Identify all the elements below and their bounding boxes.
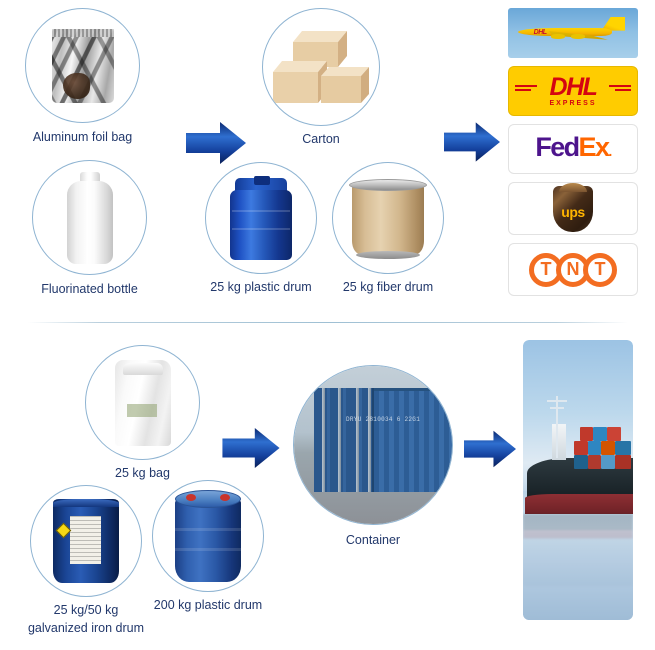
plastic-drum-25kg-circle [205,162,317,274]
cargo-ship-photo [523,340,633,620]
carrier-ups[interactable]: ups [508,182,638,235]
arrow-outer-to-carriers-icon [444,122,500,162]
arrow-inner-to-outer-icon [186,122,246,164]
container-image: DRYU 2810034 6 22G1 [294,366,452,524]
arrow-container-to-ship-icon [464,430,516,468]
dhl-wordmark: DHL [550,75,597,99]
aluminum-foil-bag-image [52,29,114,103]
item-aluminum-foil-bag: Aluminum foil bag [25,8,140,123]
carrier-dhl-express[interactable]: DHL EXPRESS [508,66,638,116]
container-circle: DRYU 2810034 6 22G1 [293,365,453,525]
item-cargo-ship[interactable] [523,340,633,620]
carton-label: Carton [302,132,340,147]
item-bag-25kg: 25 kg bag [85,345,200,460]
fluorinated-bottle-circle [32,160,147,275]
carton-circle [262,8,380,126]
container-code: DRYU 2810034 6 22G1 [346,416,420,423]
item-container: DRYU 2810034 6 22G1 Container [293,365,453,525]
tnt-letter-3: T [583,253,617,287]
fluorinated-bottle-image [67,172,113,264]
galvanized-iron-drum-label-line2: galvanized iron drum [28,621,144,636]
galvanized-iron-drum-image [53,499,119,583]
dhl-express-subtext: EXPRESS [549,100,596,107]
arrow-goods-to-container-icon [222,428,280,468]
item-fluorinated-bottle: Fluorinated bottle [32,160,147,275]
plastic-drum-200kg-circle [152,480,264,592]
fedex-wordmark: FedEx. [535,134,610,165]
fiber-drum-25kg-image [349,177,427,259]
item-fiber-drum-25kg: 25 kg fiber drum [332,162,444,274]
bag-25kg-label: 25 kg bag [115,466,170,481]
packaging-shipping-infographic: Aluminum foil bag Fluorinated bottle [0,0,655,650]
plastic-drum-200kg-label: 200 kg plastic drum [154,598,262,613]
bag-25kg-circle [85,345,200,460]
galvanized-iron-drum-circle [30,485,142,597]
item-carton: Carton [262,8,380,126]
fiber-drum-25kg-circle [332,162,444,274]
fedex-dot: . [608,143,610,159]
ups-shield-icon: ups [553,186,593,232]
plastic-drum-25kg-label: 25 kg plastic drum [210,280,311,295]
dhl-aircraft-icon: DHL [518,23,627,42]
item-plastic-drum-25kg: 25 kg plastic drum [205,162,317,274]
fedex-fed-text: Fed [535,132,578,162]
item-galvanized-iron-drum: 25 kg/50 kg galvanized iron drum [30,485,142,597]
fiber-drum-25kg-label: 25 kg fiber drum [343,280,433,295]
section-divider [28,322,628,323]
ups-wordmark: ups [561,204,584,220]
tnt-logo-icon: T N T [529,253,617,287]
container-label: Container [346,533,400,548]
carton-image [273,31,369,103]
fluorinated-bottle-label: Fluorinated bottle [41,282,138,297]
aluminum-foil-bag-label: Aluminum foil bag [33,130,132,145]
fedex-ex-text: Ex [579,132,609,162]
item-plastic-drum-200kg: 200 kg plastic drum [152,480,264,592]
carrier-fedex[interactable]: FedEx. [508,124,638,174]
plastic-drum-25kg-image [230,176,292,260]
aircraft-dhl-text: DHL [534,29,547,36]
carrier-dhl-aircraft[interactable]: DHL [508,8,638,58]
bag-25kg-image [115,360,171,446]
aluminum-foil-bag-circle [25,8,140,123]
plastic-drum-200kg-image [175,490,241,582]
galvanized-iron-drum-label-line1: 25 kg/50 kg [54,603,119,618]
carrier-tnt[interactable]: T N T [508,243,638,296]
